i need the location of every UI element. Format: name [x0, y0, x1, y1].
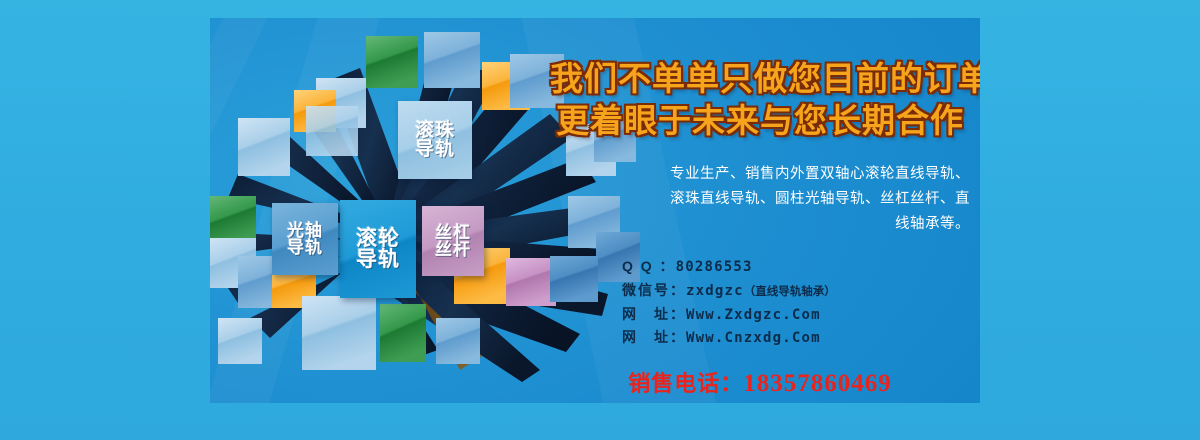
contact-row-qq: Q Q ：80286553 — [622, 255, 970, 279]
headline-block: 我们不单单只做您目前的订单 更着眼于未来与您长期合作 — [550, 58, 970, 142]
tile-shaft-rail-line1: 光轴 — [287, 222, 323, 239]
tile-screw-rod: 丝杠 丝杆 — [422, 206, 484, 276]
promo-banner: 滚珠 导轨 滚轮 导轨 光轴 导轨 丝杠 丝杆 我们不单单只做您目前的订单 更着… — [0, 0, 1200, 440]
banner-text-column: 我们不单单只做您目前的订单 更着眼于未来与您长期合作 专业生产、销售内外置双轴心… — [550, 34, 970, 384]
sales-phone-label: 销售电话： — [628, 371, 743, 396]
wechat-value: zxdgzc — [686, 283, 744, 299]
tile-screw-rod-line2: 丝杆 — [435, 241, 471, 258]
headline-line-2: 更着眼于未来与您长期合作 — [550, 100, 970, 142]
headline-line-1: 我们不单单只做您目前的订单 — [550, 58, 970, 100]
sales-phone-number[interactable]: 18357860469 — [743, 370, 892, 397]
contact-block: Q Q ：80286553 微信号：zxdgzc（直线导轨轴承） 网 址：Www… — [550, 255, 970, 350]
description-line-1: 专业生产、销售内外置双轴心滚轮直线导轨、 — [580, 162, 970, 187]
sales-phone-block: 销售电话：18357860469 — [550, 366, 970, 398]
description-line-3: 线轴承等。 — [580, 212, 970, 237]
description-line-2: 滚珠直线导轨、圆柱光轴导轨、丝杠丝杆、直 — [580, 187, 970, 212]
website-2-value[interactable]: Www.Cnzxdg.Com — [686, 330, 821, 346]
tile-roller-rail-line2: 导轨 — [356, 249, 400, 270]
tile-shaft-rail: 光轴 导轨 — [272, 203, 338, 275]
tile-shaft-rail-line2: 导轨 — [287, 239, 323, 256]
wechat-note: （直线导轨轴承） — [744, 286, 836, 298]
tile-roller-rail: 滚轮 导轨 — [340, 200, 416, 298]
qq-value: 80286553 — [676, 259, 753, 275]
tile-ball-rail-line1: 滚珠 — [415, 121, 455, 140]
contact-row-wechat: 微信号：zxdgzc（直线导轨轴承） — [622, 279, 970, 303]
website-1-value[interactable]: Www.Zxdgzc.Com — [686, 307, 821, 323]
contact-row-website-2[interactable]: 网 址：Www.Cnzxdg.Com — [622, 326, 970, 350]
wechat-label: 微信号： — [622, 282, 686, 298]
tile-roller-rail-line1: 滚轮 — [356, 228, 400, 249]
qq-label: Q Q ： — [622, 258, 676, 274]
description-block: 专业生产、销售内外置双轴心滚轮直线导轨、 滚珠直线导轨、圆柱光轴导轨、丝杠丝杆、… — [550, 162, 970, 237]
tile-screw-rod-line1: 丝杠 — [435, 224, 471, 241]
banner-inner-panel: 滚珠 导轨 滚轮 导轨 光轴 导轨 丝杠 丝杆 我们不单单只做您目前的订单 更着… — [210, 18, 980, 403]
tile-ball-rail: 滚珠 导轨 — [398, 101, 472, 179]
website-1-label: 网 址： — [622, 306, 686, 322]
contact-row-website-1[interactable]: 网 址：Www.Zxdgzc.Com — [622, 303, 970, 327]
tile-ball-rail-line2: 导轨 — [415, 140, 455, 159]
website-2-label: 网 址： — [622, 329, 686, 345]
